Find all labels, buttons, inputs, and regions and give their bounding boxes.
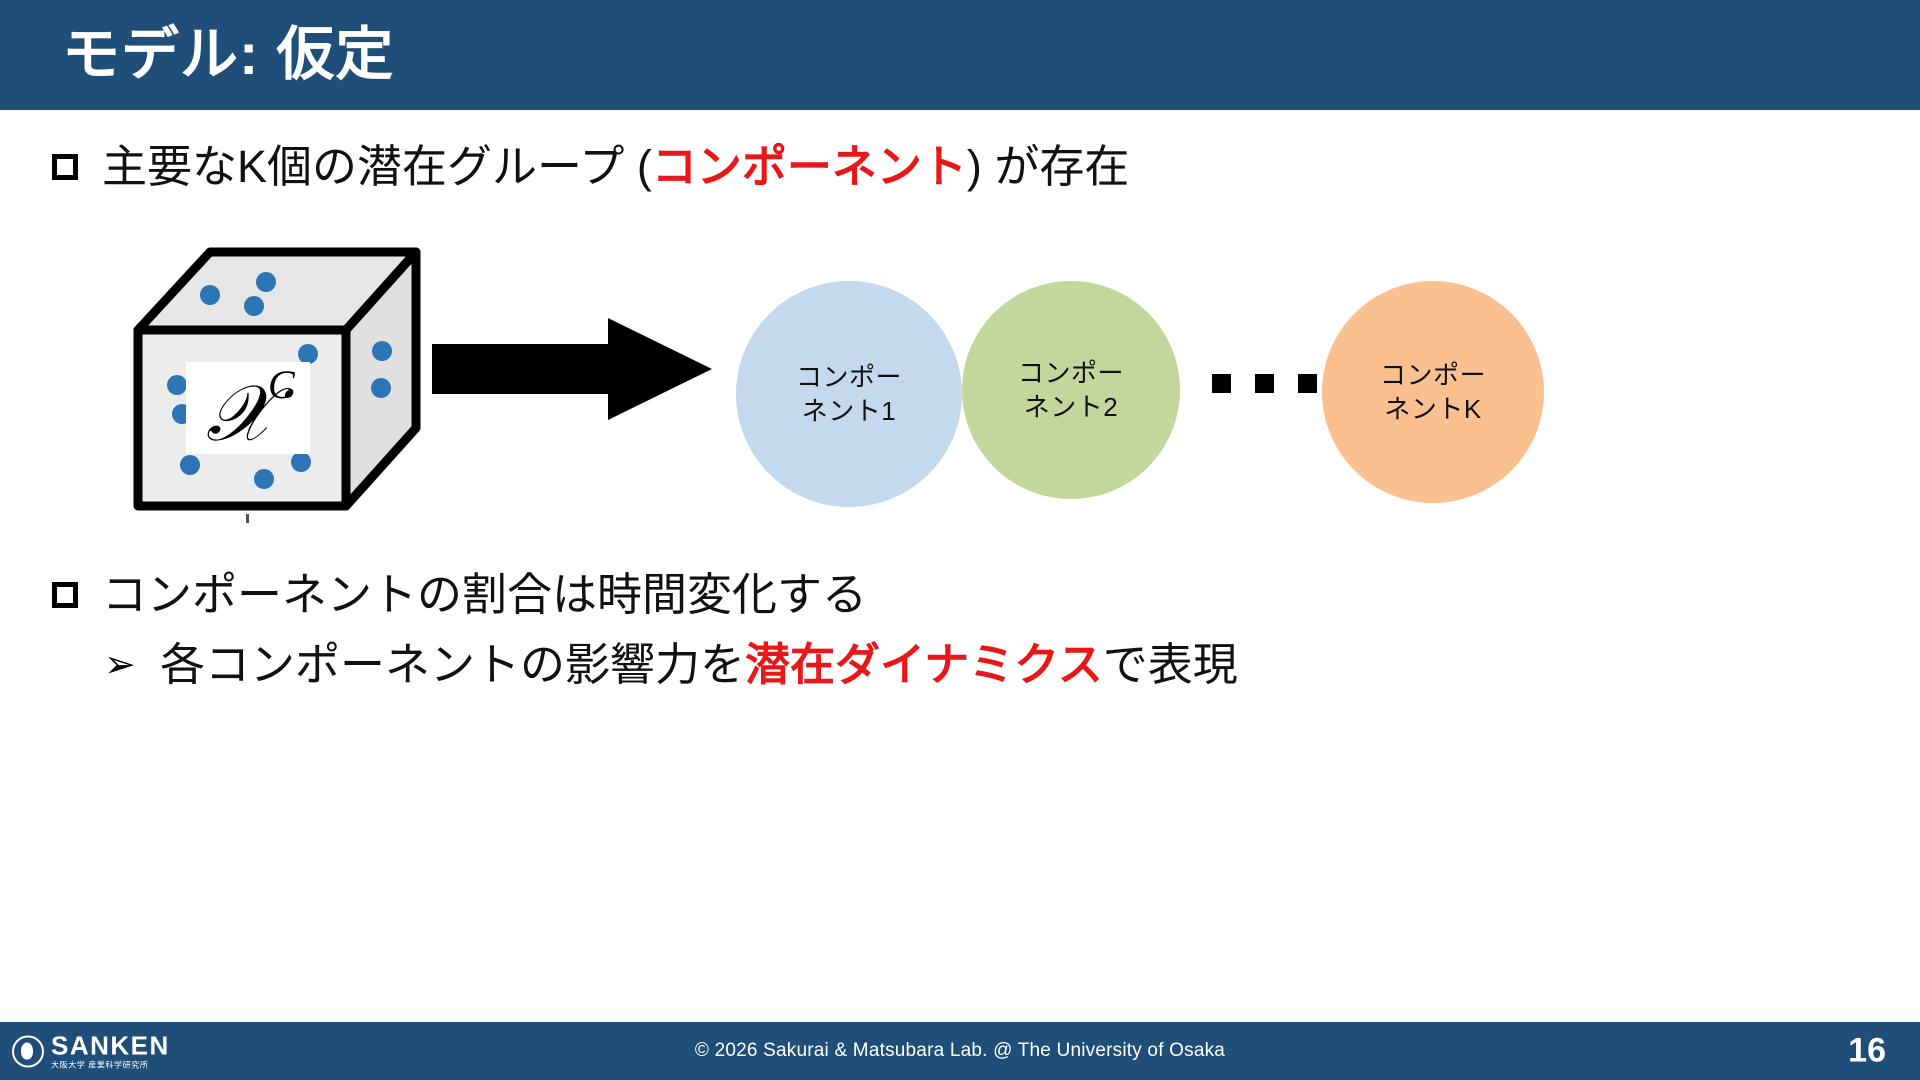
ellipsis-square-2: [1255, 374, 1274, 393]
bullet-1-emphasis: コンポーネント: [652, 141, 967, 192]
tensor-superscript-c: C: [268, 362, 296, 407]
slide-canvas: モデル: 仮定 主要なK個の潜在グループ (コンポーネント) が存在: [0, 0, 1920, 1080]
component-circle-1: コンポー ネント1: [736, 281, 962, 507]
ellipsis-squares-icon: [1212, 374, 1317, 393]
title-bar: モデル: 仮定: [0, 0, 1920, 110]
footer-copyright: © 2026 Sakurai & Matsubara Lab. @ The Un…: [0, 1040, 1920, 1062]
ellipsis-square-1: [1212, 374, 1231, 393]
component-circle-2-label: コンポー ネント2: [1018, 356, 1124, 425]
sub-bullet-item-1-text: 各コンポーネントの影響力を潜在ダイナミクスで表現: [160, 640, 1238, 690]
bullet-item-1-text: 主要なK個の潜在グループ (コンポーネント) が存在: [102, 142, 1129, 192]
tensor-cube-figure: 𝒳 C: [118, 238, 438, 528]
bullet-item-2: コンポーネントの割合は時間変化する: [52, 570, 867, 620]
square-bullet-icon: [52, 154, 78, 180]
bullet-1-text-before: 主要なK個の潜在グループ (: [102, 141, 652, 192]
page-number: 16: [1848, 1032, 1886, 1071]
page-title: モデル: 仮定: [62, 26, 394, 84]
component-circle-2: コンポー ネント2: [962, 281, 1180, 499]
sub-bullet-1-text-after: で表現: [1103, 639, 1238, 690]
component-circle-k-label: コンポー ネントK: [1380, 358, 1486, 427]
bullet-item-1: 主要なK個の潜在グループ (コンポーネント) が存在: [52, 142, 1129, 192]
ellipsis-square-3: [1298, 374, 1317, 393]
sanken-logo-subtitle: 大阪大学 産業科学研究所: [51, 1062, 170, 1070]
sub-bullet-1-emphasis: 潜在ダイナミクス: [745, 639, 1103, 690]
footer-bar: SANKEN 大阪大学 産業科学研究所 © 2026 Sakurai & Mat…: [0, 1022, 1920, 1080]
sub-bullet-1-text-before: 各コンポーネントの影響力を: [160, 639, 745, 690]
component-circle-1-label: コンポー ネント1: [796, 360, 902, 429]
bullet-1-text-after: ) が存在: [967, 141, 1130, 192]
bullet-item-2-text: コンポーネントの割合は時間変化する: [102, 570, 867, 620]
component-circle-k: コンポー ネントK: [1322, 281, 1544, 503]
right-arrow-icon: [432, 318, 712, 420]
arrow-bullet-icon: ➢: [104, 646, 138, 684]
sub-bullet-item-1: ➢ 各コンポーネントの影響力を潜在ダイナミクスで表現: [104, 640, 1238, 690]
square-bullet-icon: [52, 582, 78, 608]
